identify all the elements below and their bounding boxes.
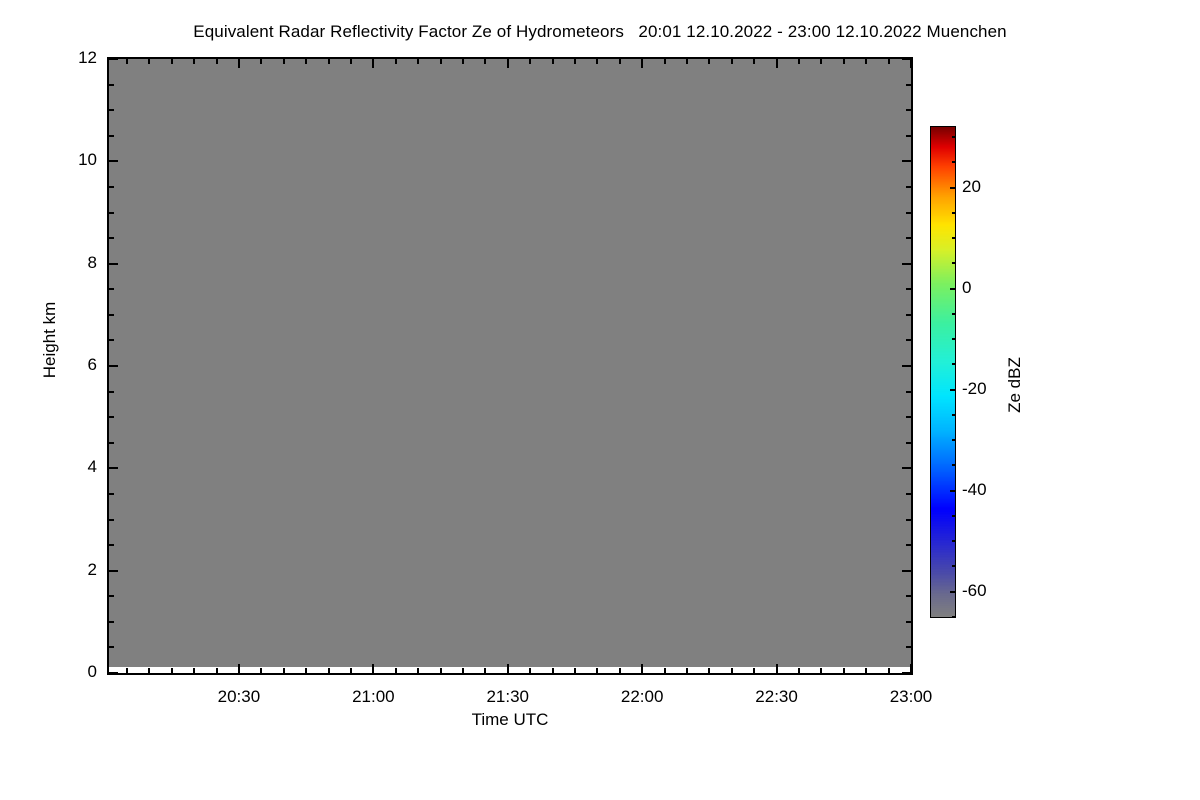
y-axis-tick-minor: [906, 416, 911, 418]
x-axis-tick-minor: [753, 668, 755, 673]
y-axis-tick-minor: [906, 519, 911, 521]
x-axis-tick-major: [910, 59, 912, 68]
x-axis-tick-minor: [574, 668, 576, 673]
colorbar-tick-minor: [952, 439, 955, 441]
y-axis-tick-major: [109, 263, 118, 265]
y-axis-tick-major: [109, 467, 118, 469]
y-axis-tick-label: 4: [51, 457, 97, 477]
colorbar-tick-minor: [952, 515, 955, 517]
colorbar-tick-label: -40: [962, 480, 987, 500]
x-axis-tick-minor: [395, 668, 397, 673]
x-axis-tick-minor: [708, 668, 710, 673]
x-axis-tick-minor: [148, 668, 150, 673]
x-axis-tick-minor: [529, 59, 531, 64]
y-axis-tick-minor: [109, 519, 114, 521]
x-axis-tick-label: 21:30: [448, 687, 568, 707]
colorbar-tick-major: [950, 288, 955, 290]
y-axis-tick-minor: [109, 416, 114, 418]
x-axis-tick-minor: [865, 668, 867, 673]
y-axis-tick-minor: [109, 135, 114, 137]
x-axis-tick-minor: [619, 59, 621, 64]
x-axis-tick-minor: [462, 668, 464, 673]
y-axis-tick-major: [902, 570, 911, 572]
y-axis-tick-minor: [906, 493, 911, 495]
y-axis-tick-minor: [906, 212, 911, 214]
x-axis-tick-minor: [552, 668, 554, 673]
y-axis-tick-minor: [906, 339, 911, 341]
colorbar-frame: [930, 126, 956, 618]
y-axis-tick-major: [109, 160, 118, 162]
y-axis-tick-minor: [109, 391, 114, 393]
x-axis-tick-major: [641, 664, 643, 673]
x-axis-tick-minor: [843, 59, 845, 64]
x-axis-tick-major: [372, 664, 374, 673]
y-axis-title: Height km: [40, 280, 60, 400]
x-axis-tick-major: [507, 664, 509, 673]
y-axis-tick-minor: [906, 237, 911, 239]
x-axis-tick-label: 21:00: [313, 687, 433, 707]
y-axis-tick-major: [902, 365, 911, 367]
radar-quicklook-figure: Equivalent Radar Reflectivity Factor Ze …: [0, 0, 1200, 800]
y-axis-tick-minor: [109, 493, 114, 495]
y-axis-tick-minor: [906, 646, 911, 648]
x-axis-tick-major: [507, 59, 509, 68]
x-axis-tick-minor: [171, 668, 173, 673]
colorbar-tick-label: 20: [962, 177, 981, 197]
y-axis-tick-minor: [109, 109, 114, 111]
y-axis-tick-label: 2: [51, 560, 97, 580]
x-axis-tick-minor: [417, 668, 419, 673]
y-axis-tick-label: 8: [51, 253, 97, 273]
colorbar-tick-minor: [952, 616, 955, 618]
y-axis-tick-minor: [109, 186, 114, 188]
x-axis-tick-minor: [305, 59, 307, 64]
y-axis-tick-major: [109, 672, 118, 674]
x-axis-tick-minor: [328, 668, 330, 673]
x-axis-tick-label: 22:30: [717, 687, 837, 707]
x-axis-tick-label: 20:30: [179, 687, 299, 707]
y-axis-tick-major: [109, 58, 118, 60]
plot-frame: [107, 57, 913, 675]
y-axis-tick-major: [902, 160, 911, 162]
y-axis-tick-minor: [906, 84, 911, 86]
x-axis-tick-minor: [843, 668, 845, 673]
x-axis-title: Time UTC: [107, 710, 913, 730]
x-axis-tick-minor: [708, 59, 710, 64]
x-axis-tick-minor: [350, 59, 352, 64]
x-axis-tick-minor: [798, 59, 800, 64]
y-axis-tick-major: [902, 58, 911, 60]
y-axis-tick-minor: [109, 339, 114, 341]
x-axis-tick-minor: [820, 668, 822, 673]
x-axis-tick-minor: [753, 59, 755, 64]
x-axis-tick-minor: [417, 59, 419, 64]
y-axis-tick-minor: [109, 621, 114, 623]
y-axis-tick-minor: [109, 442, 114, 444]
x-axis-tick-minor: [216, 59, 218, 64]
y-axis-tick-major: [109, 570, 118, 572]
y-axis-tick-minor: [109, 544, 114, 546]
x-axis-tick-minor: [126, 59, 128, 64]
x-axis-tick-label: 23:00: [851, 687, 971, 707]
y-axis-tick-minor: [109, 314, 114, 316]
colorbar-tick-major: [950, 389, 955, 391]
y-axis-tick-minor: [906, 109, 911, 111]
x-axis-tick-minor: [395, 59, 397, 64]
x-axis-tick-minor: [440, 668, 442, 673]
y-axis-tick-major: [902, 672, 911, 674]
x-axis-tick-minor: [888, 59, 890, 64]
y-axis-tick-minor: [906, 544, 911, 546]
colorbar-tick-minor: [952, 313, 955, 315]
x-axis-tick-minor: [596, 59, 598, 64]
x-axis-tick-minor: [664, 59, 666, 64]
colorbar-tick-minor: [952, 262, 955, 264]
y-axis-tick-minor: [109, 288, 114, 290]
x-axis-tick-minor: [440, 59, 442, 64]
colorbar-tick-label: 0: [962, 278, 971, 298]
x-axis-tick-major: [776, 664, 778, 673]
x-axis-tick-minor: [888, 668, 890, 673]
x-axis-tick-minor: [193, 668, 195, 673]
x-axis-tick-minor: [619, 668, 621, 673]
x-axis-tick-major: [238, 59, 240, 68]
y-axis-tick-minor: [906, 621, 911, 623]
x-axis-tick-major: [238, 664, 240, 673]
y-axis-tick-minor: [906, 135, 911, 137]
x-axis-tick-minor: [328, 59, 330, 64]
colorbar-tick-minor: [952, 237, 955, 239]
x-axis-tick-minor: [574, 59, 576, 64]
x-axis-tick-minor: [798, 668, 800, 673]
y-axis-tick-major: [902, 467, 911, 469]
x-axis-tick-minor: [686, 668, 688, 673]
x-axis-tick-minor: [283, 59, 285, 64]
x-axis-tick-minor: [260, 59, 262, 64]
y-axis-tick-minor: [906, 186, 911, 188]
x-axis-tick-minor: [484, 668, 486, 673]
y-axis-tick-minor: [109, 646, 114, 648]
x-axis-tick-minor: [462, 59, 464, 64]
colorbar-tick-minor: [952, 161, 955, 163]
y-axis-tick-minor: [109, 212, 114, 214]
colorbar-tick-minor: [952, 212, 955, 214]
x-axis-tick-minor: [820, 59, 822, 64]
colorbar-tick-minor: [952, 464, 955, 466]
x-axis-tick-minor: [529, 668, 531, 673]
x-axis-tick-major: [641, 59, 643, 68]
colorbar-tick-major: [950, 490, 955, 492]
x-axis-tick-minor: [305, 668, 307, 673]
x-axis-tick-major: [776, 59, 778, 68]
colorbar-tick-label: -20: [962, 379, 987, 399]
colorbar-tick-minor: [952, 414, 955, 416]
y-axis-tick-major: [902, 263, 911, 265]
x-axis-tick-minor: [283, 668, 285, 673]
y-axis-tick-minor: [906, 314, 911, 316]
colorbar-tick-minor: [952, 540, 955, 542]
below-range-strip: [109, 667, 911, 673]
y-axis-tick-minor: [906, 595, 911, 597]
x-axis-tick-minor: [731, 59, 733, 64]
x-axis-tick-minor: [596, 668, 598, 673]
y-axis-tick-minor: [906, 391, 911, 393]
y-axis-tick-label: 10: [51, 150, 97, 170]
x-axis-tick-minor: [193, 59, 195, 64]
colorbar-tick-minor: [952, 363, 955, 365]
x-axis-tick-minor: [865, 59, 867, 64]
y-axis-tick-minor: [906, 442, 911, 444]
colorbar-tick-label: -60: [962, 581, 987, 601]
colorbar-tick-minor: [952, 565, 955, 567]
colorbar-tick-major: [950, 187, 955, 189]
y-axis-tick-minor: [109, 237, 114, 239]
x-axis-tick-minor: [664, 668, 666, 673]
x-axis-tick-minor: [731, 668, 733, 673]
y-axis-tick-minor: [906, 288, 911, 290]
x-axis-tick-minor: [552, 59, 554, 64]
x-axis-tick-minor: [148, 59, 150, 64]
figure-title: Equivalent Radar Reflectivity Factor Ze …: [0, 22, 1200, 42]
x-axis-tick-minor: [484, 59, 486, 64]
x-axis-tick-major: [372, 59, 374, 68]
colorbar-tick-major: [950, 591, 955, 593]
y-axis-tick-label: 12: [51, 48, 97, 68]
x-axis-tick-minor: [350, 668, 352, 673]
colorbar-tick-minor: [952, 136, 955, 138]
y-axis-tick-minor: [109, 84, 114, 86]
colorbar-title: Ze dBZ: [1005, 315, 1025, 455]
x-axis-tick-minor: [171, 59, 173, 64]
x-axis-tick-minor: [216, 668, 218, 673]
y-axis-tick-label: 0: [51, 662, 97, 682]
x-axis-tick-minor: [126, 668, 128, 673]
x-axis-tick-label: 22:00: [582, 687, 702, 707]
y-axis-tick-major: [109, 365, 118, 367]
y-axis-tick-minor: [109, 595, 114, 597]
x-axis-tick-minor: [260, 668, 262, 673]
colorbar-tick-minor: [952, 338, 955, 340]
x-axis-tick-minor: [686, 59, 688, 64]
